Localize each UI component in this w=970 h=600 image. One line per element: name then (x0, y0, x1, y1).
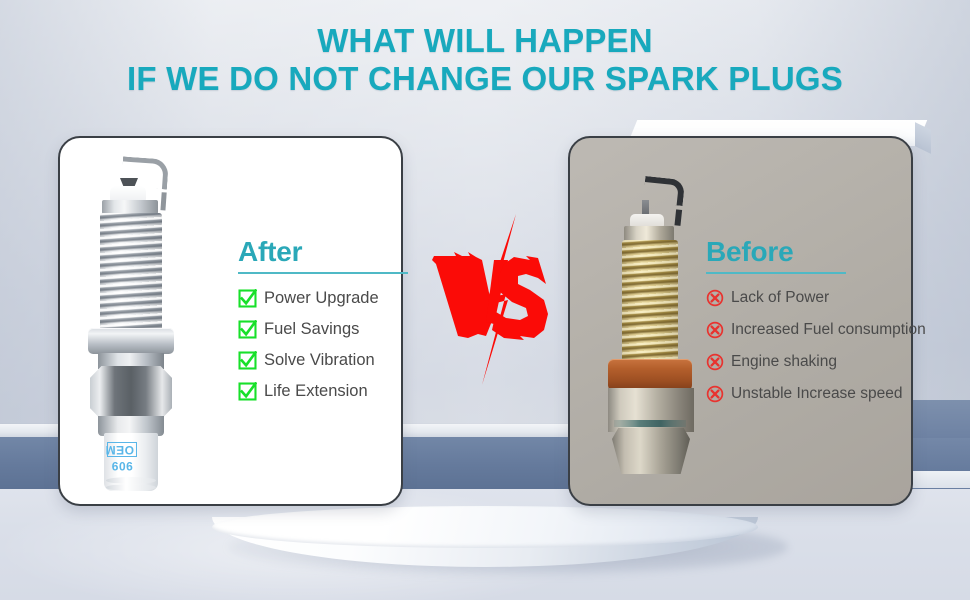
circle-x-icon (706, 289, 724, 307)
after-column: After Power Upgrade Fuel Savings (238, 236, 408, 411)
old-plug-hex-lower (612, 428, 690, 474)
list-item: Unstable Increase speed (706, 383, 936, 405)
old-plug-corrosion-stripe (614, 420, 686, 427)
old-plug-terminal-wire (643, 176, 685, 206)
plug-ceramic-rib-1 (106, 477, 156, 484)
before-drawback-list: Lack of Power Increased Fuel consumption… (706, 287, 936, 405)
plug-threads (100, 213, 162, 331)
plug-ceramic-rib-2 (106, 484, 156, 491)
new-spark-plug-image: 909 OEM (76, 150, 216, 495)
list-item-label: Power Upgrade (264, 288, 379, 308)
circle-x-icon (706, 353, 724, 371)
plug-brand-oem: OEM (107, 442, 137, 457)
list-item: Lack of Power (706, 287, 936, 309)
title-line-1: WHAT WILL HAPPEN (0, 22, 970, 60)
plug-collar (102, 200, 158, 214)
list-item: Engine shaking (706, 351, 936, 373)
after-benefit-list: Power Upgrade Fuel Savings Solve Vibrati… (238, 287, 408, 402)
plug-brand-number: 909 (111, 459, 133, 473)
circle-x-icon (706, 385, 724, 403)
before-heading: Before (706, 236, 936, 268)
list-item: Life Extension (238, 380, 408, 402)
list-item: Increased Fuel consumption (706, 319, 936, 341)
list-item-label: Unstable Increase speed (731, 384, 902, 404)
title-line-2: IF WE DO NOT CHANGE OUR SPARK PLUGS (0, 60, 970, 98)
old-plug-copper-washer (608, 359, 692, 391)
list-item: Power Upgrade (238, 287, 408, 309)
list-item-label: Solve Vibration (264, 350, 375, 370)
plug-hex-nut (90, 366, 172, 420)
infographic-canvas: WHAT WILL HAPPEN IF WE DO NOT CHANGE OUR… (0, 0, 970, 600)
check-box-icon (238, 351, 257, 370)
check-box-icon (238, 382, 257, 401)
before-column: Before Lack of Power Increased Fuel cons… (706, 236, 936, 415)
after-heading: After (238, 236, 408, 268)
vs-badge (430, 212, 550, 387)
podium-top-surface (212, 506, 758, 548)
list-item-label: Lack of Power (731, 288, 829, 308)
list-item-label: Engine shaking (731, 352, 837, 372)
circle-x-icon (706, 321, 724, 339)
list-item-label: Increased Fuel consumption (731, 320, 926, 340)
check-box-icon (238, 320, 257, 339)
plug-gasket-washer (88, 328, 174, 354)
list-item-label: Life Extension (264, 381, 368, 401)
plug-brand-label: 909 OEM (107, 442, 137, 472)
list-item: Fuel Savings (238, 318, 408, 340)
list-item-label: Fuel Savings (264, 319, 359, 339)
check-box-icon (238, 289, 257, 308)
page-title: WHAT WILL HAPPEN IF WE DO NOT CHANGE OUR… (0, 22, 970, 98)
before-heading-rule (706, 272, 846, 274)
old-plug-threads (622, 240, 678, 362)
after-heading-rule (238, 272, 408, 274)
list-item: Solve Vibration (238, 349, 408, 371)
